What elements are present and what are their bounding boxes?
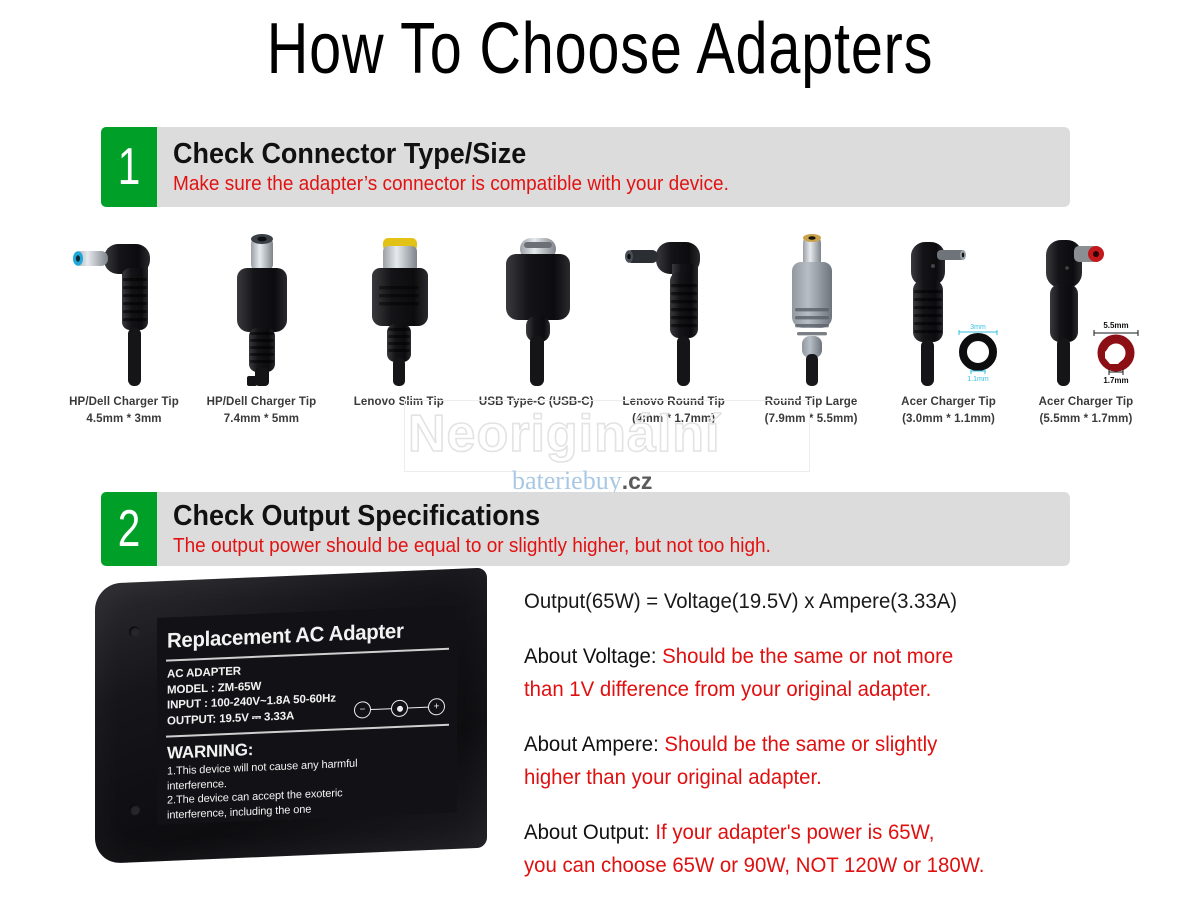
round-tip-large-gray-icon [747, 228, 875, 388]
screw-hole [129, 804, 140, 815]
spec-line-1: About Voltage: Should be the same or not… [524, 640, 1164, 673]
connector-size: 4.5mm * 3mm [69, 411, 179, 428]
acer-l-tip-black-ring-icon: 3mm 1.1mm [885, 228, 1013, 388]
step-2-number: 2 [107, 503, 151, 555]
page-title: How To Choose Adapters [120, 6, 1080, 92]
connector-item[interactable]: HP/Dell Charger Tip 4.5mm * 3mm [60, 228, 188, 428]
polarity-bar [371, 708, 391, 710]
connector-item[interactable]: HP/Dell Charger Tip 7.4mm * 5mm [197, 228, 325, 428]
connector-size: (7.9mm * 5.5mm) [765, 411, 858, 428]
connector-caption: Lenovo Slim Tip [354, 394, 444, 411]
spec-line-1: About Output: If your adapter's power is… [524, 816, 1164, 849]
hp-dell-straight-barrel-icon [197, 228, 325, 388]
connector-name: USB Type-C (USB-C) [479, 394, 594, 411]
connector-size: (3.0mm * 1.1mm) [901, 411, 996, 428]
usb-type-c-icon [472, 228, 600, 388]
callout-outer-size: 5.5mm [1103, 321, 1128, 330]
lenovo-round-l-tip-icon [610, 228, 738, 388]
step-2-heading: Check Output Specifications [173, 499, 1007, 533]
connector-name: Acer Charger Tip [901, 394, 996, 411]
connector-gallery: HP/Dell Charger Tip 4.5mm * 3mm [60, 228, 1150, 438]
adapter-spec-label: Replacement AC Adapter AC ADAPTER MODEL … [157, 605, 457, 825]
spec-line-1: About Ampere: Should be the same or slig… [524, 728, 1164, 761]
connector-item[interactable]: Round Tip Large (7.9mm * 5.5mm) [747, 228, 875, 428]
adapter-brick-image: Replacement AC Adapter AC ADAPTER MODEL … [95, 578, 495, 878]
step-1-header: 1 Check Connector Type/Size Make sure th… [101, 127, 1070, 207]
connector-caption: HP/Dell Charger Tip 4.5mm * 3mm [69, 394, 179, 428]
connector-name: Round Tip Large [765, 394, 858, 411]
acer-l-tip-red-ring-icon: 5.5mm 1.7mm [1022, 228, 1150, 388]
connector-caption: USB Type-C (USB-C) [479, 394, 594, 411]
connector-item[interactable]: USB Type-C (USB-C) [472, 228, 600, 411]
spec-item-voltage: About Voltage: Should be the same or not… [524, 640, 1184, 706]
connector-name: Lenovo Round Tip [623, 394, 725, 411]
label-spec-lines: AC ADAPTER MODEL : ZM-65W INPUT : 100-24… [167, 655, 457, 729]
step-2-header: 2 Check Output Specifications The output… [101, 492, 1070, 566]
step-1-number: 1 [107, 141, 151, 193]
screw-hole [129, 626, 140, 637]
spec-value-a: Should be the same or not more [657, 645, 954, 668]
connector-size: (4mm * 1.7mm) [623, 411, 725, 428]
connector-size: 7.4mm * 5mm [207, 411, 317, 428]
spec-line-2: higher than your original adapter. [524, 761, 1164, 794]
polarity-plus: + [428, 698, 445, 716]
callout-outer-size: 3mm [970, 324, 986, 331]
polarity-center [391, 699, 408, 717]
step-2-text: Check Output Specifications The output p… [157, 492, 1070, 566]
spec-item-output: About Output: If your adapter's power is… [524, 816, 1184, 882]
polarity-minus: − [354, 701, 371, 719]
spec-value-a: If your adapter's power is 65W, [650, 821, 935, 844]
spec-key: About Output: [524, 821, 650, 844]
spec-value-a: Should be the same or slightly [659, 733, 938, 756]
connector-name: HP/Dell Charger Tip [69, 394, 179, 411]
watermark-brand-name: bateriebuy [512, 466, 622, 495]
spec-line-2: you can choose 65W or 90W, NOT 120W or 1… [524, 849, 1164, 882]
connector-item[interactable]: 5.5mm 1.7mm Acer Charger Tip (5.5mm * 1.… [1022, 228, 1150, 428]
step-1-subheading: Make sure the adapter’s connector is com… [173, 171, 1025, 197]
callout-inner-size: 1.1mm [967, 376, 989, 383]
connector-caption: HP/Dell Charger Tip 7.4mm * 5mm [207, 394, 317, 428]
connector-item[interactable]: 3mm 1.1mm Acer Charger Tip (3.0mm * 1.1m… [885, 228, 1013, 428]
connector-name: Acer Charger Tip [1039, 394, 1134, 411]
connector-name: HP/Dell Charger Tip [207, 394, 317, 411]
infographic-page: How To Choose Adapters 1 Check Connector… [0, 0, 1200, 900]
output-equation: Output(65W) = Voltage(19.5V) x Ampere(3.… [524, 588, 1164, 616]
step-2-subheading: The output power should be equal to or s… [173, 533, 1025, 559]
step-1-badge: 1 [101, 127, 157, 207]
lenovo-slim-rectangular-icon [335, 228, 463, 388]
spec-key: About Ampere: [524, 733, 659, 756]
spec-item-ampere: About Ampere: Should be the same or slig… [524, 728, 1184, 794]
label-warning-lines: 1.This device will not cause any harmful… [167, 752, 457, 825]
callout-inner-size: 1.7mm [1103, 376, 1128, 385]
step-1-text: Check Connector Type/Size Make sure the … [157, 127, 1070, 207]
spec-line-2: than 1V difference from your original ad… [524, 673, 1164, 706]
watermark-brand-tld: .cz [622, 468, 653, 494]
connector-caption: Lenovo Round Tip (4mm * 1.7mm) [623, 394, 725, 428]
connector-size: (5.5mm * 1.7mm) [1039, 411, 1134, 428]
polarity-bar [408, 706, 428, 708]
label-title: Replacement AC Adapter [167, 618, 448, 654]
connector-item[interactable]: Lenovo Round Tip (4mm * 1.7mm) [610, 228, 738, 428]
connector-name: Lenovo Slim Tip [354, 394, 444, 411]
output-specs-text: Output(65W) = Voltage(19.5V) x Ampere(3.… [524, 588, 1184, 900]
connector-caption: Acer Charger Tip (3.0mm * 1.1mm) [901, 394, 996, 428]
step-1-heading: Check Connector Type/Size [173, 137, 1007, 171]
connector-item[interactable]: Lenovo Slim Tip [335, 228, 463, 411]
step-2-badge: 2 [101, 492, 157, 566]
polarity-center-dot [397, 705, 403, 711]
hp-dell-l-tip-blue-icon [60, 228, 188, 388]
connector-caption: Round Tip Large (7.9mm * 5.5mm) [765, 394, 858, 428]
connector-caption: Acer Charger Tip (5.5mm * 1.7mm) [1039, 394, 1134, 428]
spec-key: About Voltage: [524, 645, 657, 668]
